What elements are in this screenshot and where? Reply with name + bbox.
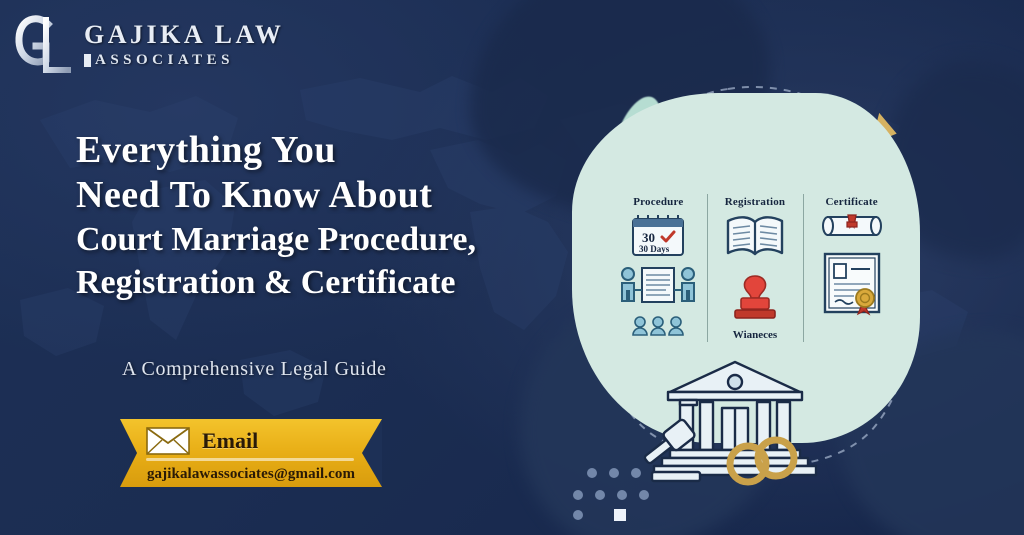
brand-tagline-wrap: ASSOCIATES — [84, 53, 284, 68]
email-label: Email — [202, 428, 258, 454]
open-book-icon — [724, 213, 786, 264]
dot-grid-icon — [570, 465, 650, 525]
headline-line-1: Everything You — [76, 128, 546, 173]
calendar-30-days-icon: 30 30 Days — [628, 213, 688, 264]
rubber-stamp-icon — [729, 274, 781, 327]
headline-line-4: Registration & Certificate — [76, 261, 546, 305]
two-people-document-icon — [616, 266, 700, 313]
envelope-icon — [146, 427, 190, 455]
brand-name: GAJIKA LAW — [84, 22, 284, 48]
certificate-seal-icon — [821, 252, 883, 321]
infographic-columns: Procedure 30 30 Days — [610, 196, 900, 346]
brand-tagline: ASSOCIATES — [95, 53, 234, 68]
email-ribbon-top-row: Email — [146, 425, 358, 457]
court-scene — [640, 358, 830, 513]
email-ribbon[interactable]: Email gajikalawassociates@gmail.com — [120, 419, 382, 487]
column-title: Certificate — [826, 196, 878, 208]
infographic-column-registration: Registration — [707, 196, 804, 346]
infographic-column-certificate: Certificate — [803, 196, 900, 346]
gl-monogram-icon — [12, 10, 74, 80]
headline-line-3: Court Marriage Procedure, — [76, 218, 546, 262]
brand-bar-decor — [84, 54, 91, 67]
marketing-banner: Procedure 30 30 Days — [0, 0, 1024, 535]
headline-line-2: Need To Know About — [76, 173, 546, 218]
headline-block: Everything You Need To Know About Court … — [76, 128, 546, 305]
svg-text:30: 30 — [642, 230, 655, 245]
column-caption: Wianeces — [733, 329, 777, 341]
diploma-scroll-icon — [820, 213, 884, 244]
email-address[interactable]: gajikalawassociates@gmail.com — [142, 462, 360, 486]
headline-subtitle: A Comprehensive Legal Guide — [122, 358, 386, 381]
column-title: Procedure — [633, 196, 683, 208]
brand-logo[interactable]: GAJIKA LAW ASSOCIATES — [12, 10, 284, 80]
column-title: Registration — [725, 196, 785, 208]
svg-text:30 Days: 30 Days — [639, 244, 670, 254]
three-people-icon — [630, 315, 686, 342]
infographic-column-procedure: Procedure 30 30 Days — [610, 196, 707, 346]
email-ribbon-divider — [146, 458, 354, 461]
